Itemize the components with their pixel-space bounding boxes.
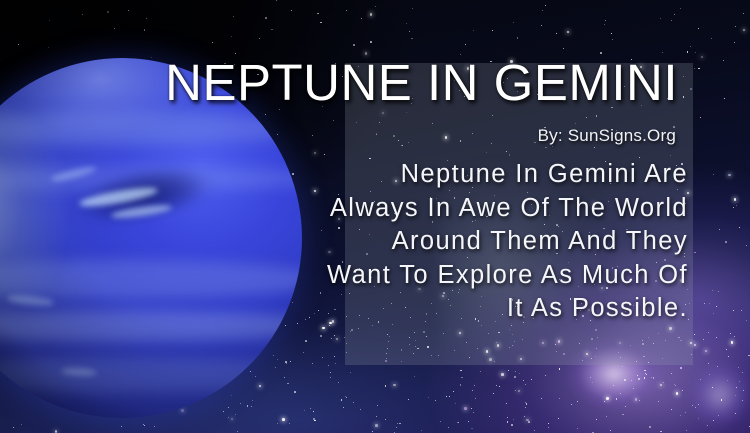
body-text-line: Neptune In Gemini Are — [150, 158, 688, 192]
text-layer: NEPTUNE IN GEMINI By: SunSigns.Org Neptu… — [0, 0, 750, 433]
banner-image: NEPTUNE IN GEMINI By: SunSigns.Org Neptu… — [0, 0, 750, 433]
body-text-line: It As Possible. — [150, 292, 688, 326]
body-text-line: Around Them And They — [150, 225, 688, 259]
byline: By: SunSigns.Org — [0, 126, 676, 146]
body-text-line: Want To Explore As Much Of — [150, 259, 688, 293]
page-title: NEPTUNE IN GEMINI — [0, 57, 678, 108]
body-text: Neptune In Gemini AreAlways In Awe Of Th… — [150, 158, 688, 326]
body-text-line: Always In Awe Of The World — [150, 192, 688, 226]
